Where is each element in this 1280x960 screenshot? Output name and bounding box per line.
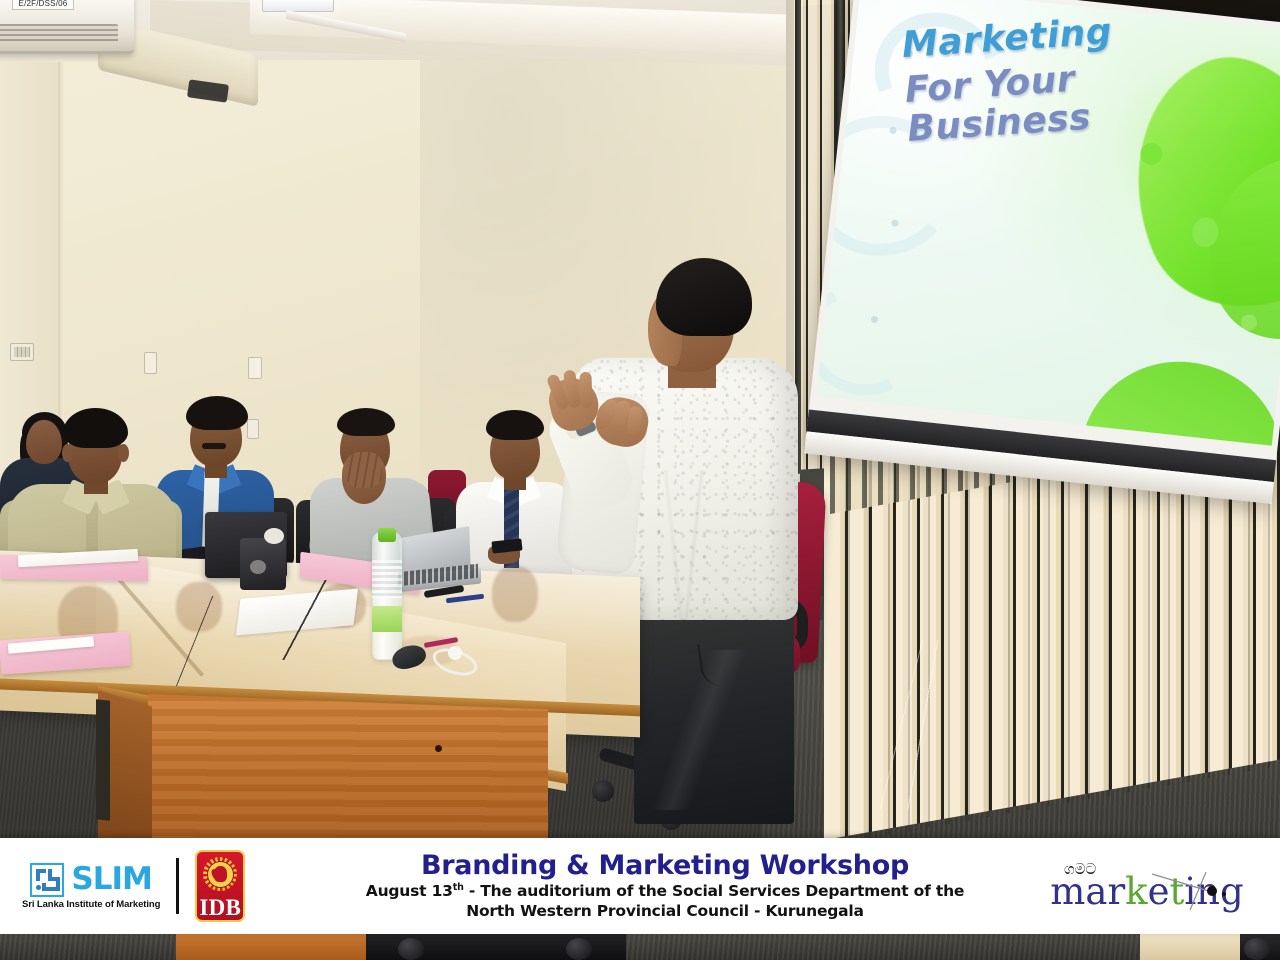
wall-switch-lower: [247, 419, 259, 439]
speaker-cone: [264, 528, 284, 544]
wall-socket: [248, 357, 262, 379]
strip-table-base: [176, 934, 366, 960]
chair-castor: [1244, 938, 1270, 960]
ac-asset-label: E/2F/DSS/06: [12, 0, 74, 10]
idb-wordmark: IDB: [199, 896, 241, 919]
hair: [486, 410, 544, 440]
wordmark-part-mar: mar: [1050, 870, 1125, 913]
chair-castor: [592, 780, 614, 802]
wordmark-part-ing: ing: [1184, 870, 1243, 913]
banner-text-block: Branding & Marketing Workshop August 13t…: [300, 851, 1030, 922]
idb-logo: IDB: [195, 850, 245, 922]
slim-logo-row: SLIM: [30, 863, 151, 897]
slim-wordmark: SLIM: [71, 864, 151, 895]
wordmark-part-t: t: [1169, 870, 1184, 913]
table-knob: [435, 745, 442, 752]
air-conditioner-unit: E/2F/DSS/06: [0, 0, 134, 54]
ear: [62, 444, 73, 462]
event-photograph: E/2F/DSS/06: [0, 0, 1280, 960]
chair-castor: [398, 938, 424, 960]
slim-tagline: Sri Lanka Institute of Marketing: [22, 899, 160, 910]
banner-logos-left: SLIM Sri Lanka Institute of Marketing ID…: [0, 850, 300, 922]
projection-screen: Marketing For Your Business: [804, 0, 1280, 504]
wordmark-part-k: k: [1125, 870, 1147, 913]
gamata-marketing-logo: ගමට marketing: [1030, 862, 1280, 910]
slim-mark-icon: [30, 863, 64, 897]
event-banner: SLIM Sri Lanka Institute of Marketing ID…: [0, 838, 1280, 934]
slide-title-block: Marketing For Your Business: [901, 5, 1238, 149]
banner-date-prefix: August 13: [366, 882, 453, 900]
bottle-cap: [378, 528, 396, 542]
finger: [579, 372, 592, 408]
projected-slide: Marketing For Your Business: [816, 0, 1280, 446]
bottle-label: [372, 606, 402, 632]
table-base-panel: [148, 694, 548, 854]
banner-title: Branding & Marketing Workshop: [308, 851, 1022, 881]
ear: [118, 444, 129, 462]
face: [26, 420, 62, 464]
earbud: [448, 646, 462, 660]
bottle-ridges: [372, 560, 402, 598]
chair-castor: [566, 938, 592, 960]
banner-subtitle-line2: North Western Provincial Council - Kurun…: [308, 901, 1022, 921]
slim-logo: SLIM Sri Lanka Institute of Marketing: [22, 863, 160, 910]
logo-divider: [176, 858, 179, 914]
strip-blind: [1140, 934, 1250, 960]
lion-emblem-icon: [214, 866, 227, 882]
screenshot-root: E/2F/DSS/06: [0, 0, 1280, 960]
marketing-wordmark: marketing: [1050, 873, 1243, 910]
moustache: [202, 443, 226, 449]
hair: [186, 396, 248, 430]
ceiling-light: [262, 0, 334, 12]
banner-subtitle-line1: August 13th - The auditorium of the Soci…: [308, 881, 1022, 901]
wall-switch: [144, 352, 157, 374]
fingers: [346, 452, 382, 488]
banner-venue-part1: - The auditorium of the Social Services …: [464, 882, 965, 900]
table-reflection: [492, 566, 538, 622]
trouser-pocket: [697, 636, 765, 688]
banner-date-ordinal: th: [453, 882, 464, 893]
table-leg: [96, 699, 110, 820]
idb-gear-icon: [203, 857, 237, 891]
cable: [120, 596, 270, 686]
photo-bottom-strip: [0, 934, 1280, 960]
wall-switch-panel: [10, 343, 34, 361]
slide-decor-circle-c: [816, 270, 935, 409]
wordmark-part-e: e: [1148, 870, 1170, 913]
hair: [337, 408, 395, 436]
speaker-cone: [250, 560, 266, 574]
ac-vents: [0, 24, 118, 44]
